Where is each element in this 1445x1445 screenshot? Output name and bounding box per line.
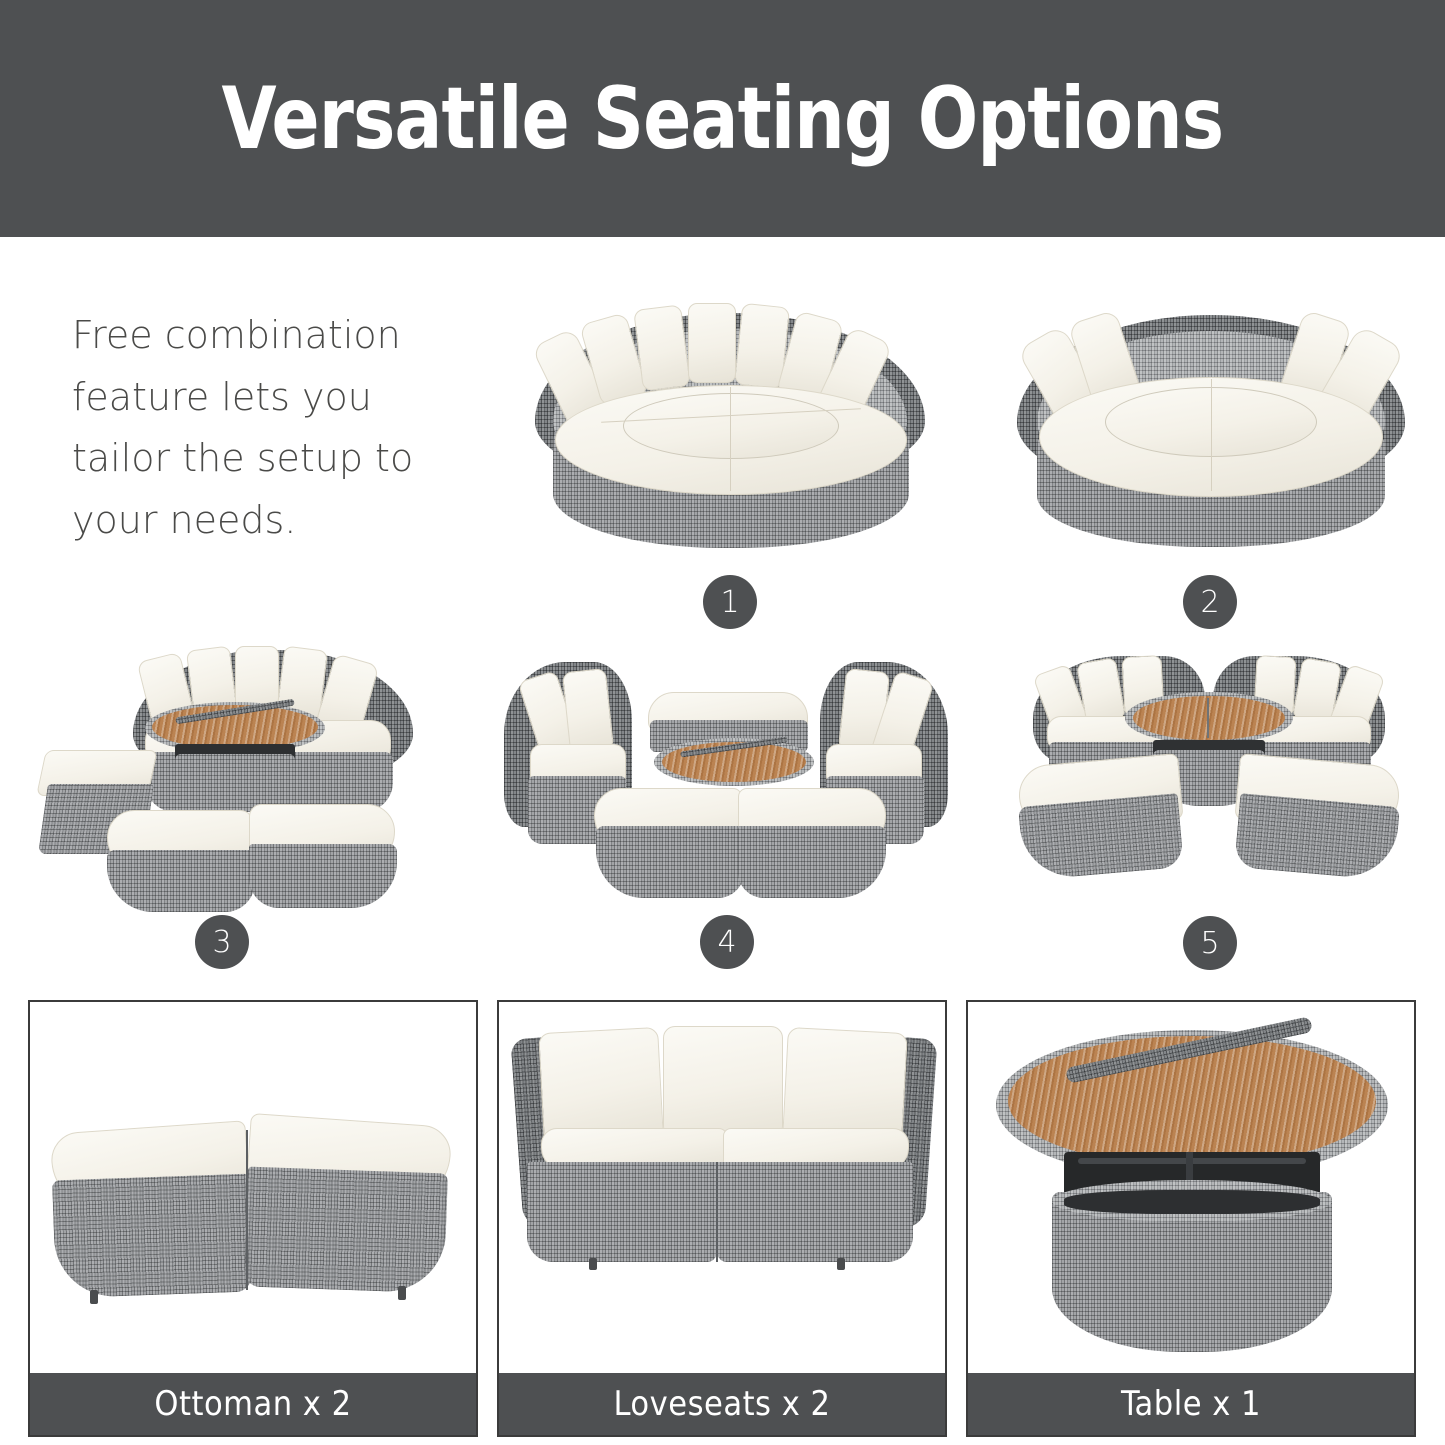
ottoman-foot	[398, 1286, 406, 1300]
loveseat-center-seam	[716, 1162, 718, 1262]
center-table	[654, 732, 814, 788]
header-bar: Versatile Seating Options	[0, 0, 1445, 237]
back-pillow	[663, 1026, 783, 1138]
configuration-tile-5: 5	[985, 638, 1435, 928]
ottoman-base-right	[244, 1167, 448, 1294]
table-base-inner-shadow	[1064, 1190, 1320, 1214]
config-badge-4: 4	[700, 915, 754, 969]
seat-seam	[1211, 379, 1212, 491]
center-table	[1125, 686, 1293, 748]
component-panel-ottoman: Ottoman x 2	[28, 1000, 478, 1437]
seat-seam	[730, 387, 731, 491]
table-illustration	[968, 1002, 1414, 1373]
ottoman-illustration	[30, 1002, 476, 1373]
configuration-tile-3: 3	[35, 632, 465, 922]
ottoman-base-left	[52, 1174, 252, 1299]
ottoman-base	[1018, 793, 1184, 881]
config-badge-5: 5	[1183, 916, 1237, 970]
ottoman-base	[107, 850, 255, 912]
loveseat-base-left	[527, 1162, 717, 1262]
loveseats-label: Loveseats x 2	[499, 1373, 945, 1435]
ottoman-base	[1234, 793, 1400, 881]
component-panel-table: Table x 1	[966, 1000, 1416, 1437]
ottoman-base	[249, 844, 397, 908]
ottoman-center-seam	[246, 1130, 248, 1290]
config-1-illustration	[505, 295, 955, 565]
ottoman-label: Ottoman x 2	[30, 1373, 476, 1435]
config-badge-1: 1	[703, 575, 757, 629]
ottoman-base	[596, 826, 744, 898]
table-base	[175, 754, 295, 800]
ottoman-foot	[90, 1290, 98, 1304]
loveseat-foot	[837, 1258, 845, 1270]
configuration-tile-2: 2	[985, 295, 1435, 565]
back-pillow	[688, 303, 736, 383]
table-wood-top	[1133, 696, 1285, 740]
table-center-seam	[1207, 698, 1209, 738]
back-pillow	[562, 668, 614, 754]
config-badge-2: 2	[1183, 575, 1237, 629]
loveseat-base-right	[717, 1162, 913, 1262]
ottoman-base	[738, 826, 886, 898]
loveseat-illustration	[499, 1002, 945, 1373]
center-cushion	[623, 393, 839, 459]
config-3-illustration	[35, 632, 465, 922]
back-pillow	[633, 304, 691, 391]
configuration-tile-4: 4	[490, 640, 960, 925]
component-panel-loveseats: Loveseats x 2	[497, 1000, 947, 1437]
config-badge-3: 3	[195, 915, 249, 969]
table-label: Table x 1	[968, 1373, 1414, 1435]
loveseat-foot	[589, 1258, 597, 1270]
config-4-illustration	[490, 640, 960, 925]
config-5-illustration	[985, 638, 1435, 928]
config-2-illustration	[985, 295, 1435, 565]
page-title: Versatile Seating Options	[222, 76, 1224, 162]
configuration-tile-1: 1	[505, 295, 955, 565]
intro-paragraph: Free combination feature lets you tailor…	[72, 305, 462, 551]
